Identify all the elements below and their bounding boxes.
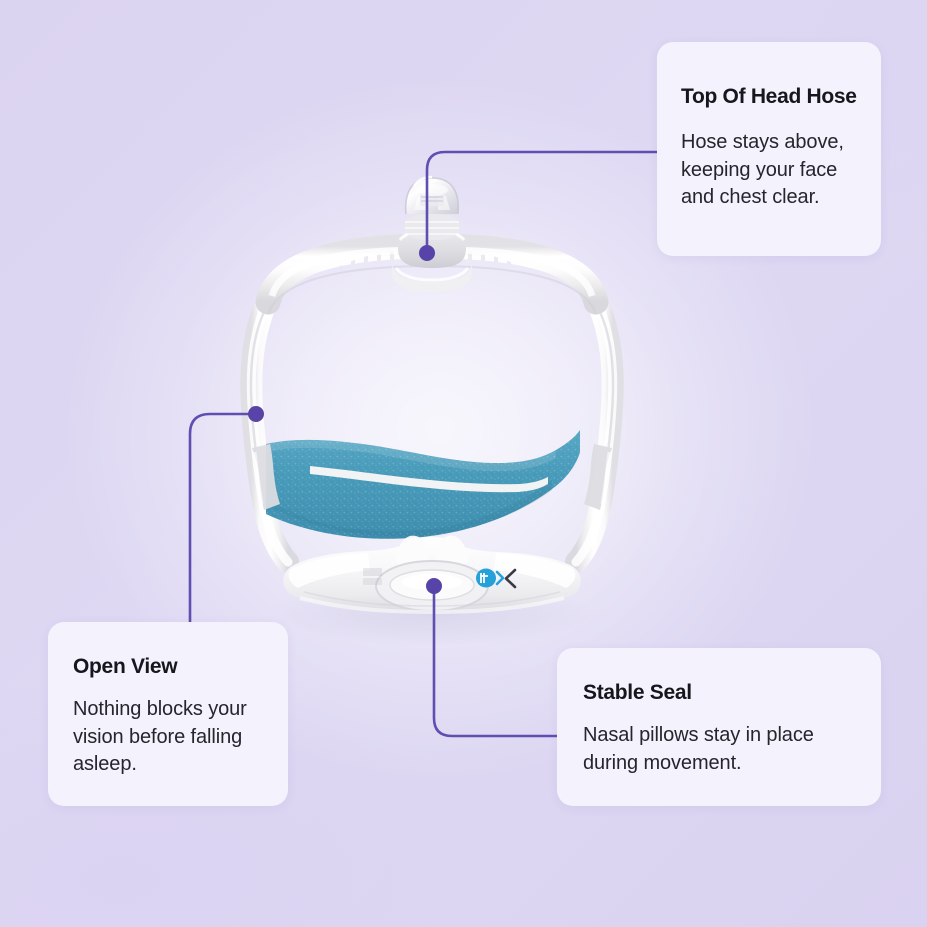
product-feature-callout-diagram: Top Of Head Hose Hose stays above, keepi… [0, 0, 927, 927]
callout-title: Open View [73, 654, 288, 679]
callout-body: Nasal pillows stay in place during movem… [583, 722, 855, 777]
callout-body: Nothing blocks your vision before fallin… [73, 696, 271, 779]
callout-card-stable-seal[interactable]: Stable Seal Nasal pillows stay in place … [557, 648, 881, 806]
callout-title: Stable Seal [583, 680, 881, 705]
callout-body: Hose stays above, keeping your face and … [681, 129, 871, 212]
callout-card-top-of-head-hose[interactable]: Top Of Head Hose Hose stays above, keepi… [657, 42, 881, 256]
callout-title: Top Of Head Hose [681, 84, 881, 109]
callout-card-open-view[interactable]: Open View Nothing blocks your vision bef… [48, 622, 288, 806]
